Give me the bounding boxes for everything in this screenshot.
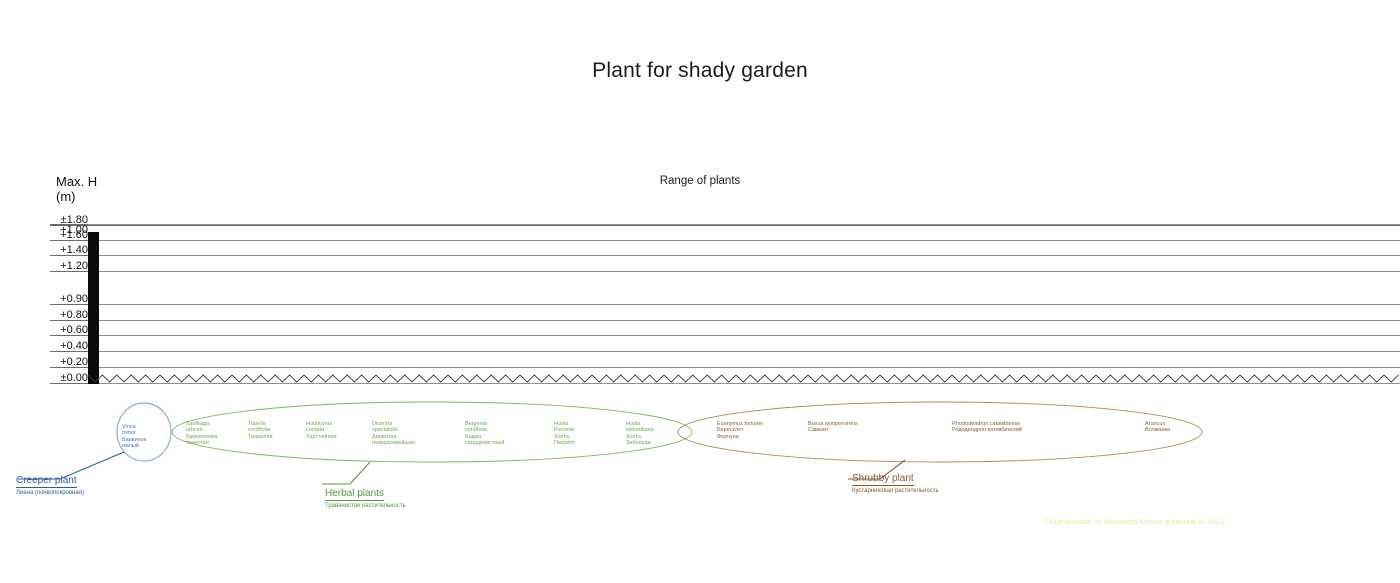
plant-label-line: Хауттюйния bbox=[306, 434, 337, 440]
plant-label-4: HouttuyniacordataХауттюйния bbox=[306, 421, 337, 440]
plant-photo-image bbox=[806, 311, 927, 383]
chart-subtitle: Range of plants bbox=[0, 175, 1400, 187]
y-axis-tick-rule-5 bbox=[50, 304, 88, 305]
plant-label-1: VincaminorБарвинокмалый bbox=[122, 424, 146, 449]
plant-label-line: sieboldiana bbox=[626, 427, 654, 433]
legend-item-creeper[interactable]: Creeper plant Лиана (почвопокровная) bbox=[16, 470, 84, 496]
herbal-leader-line bbox=[322, 462, 370, 484]
legend-creeper-label-ru: Лиана (почвопокровная) bbox=[16, 490, 84, 496]
y-axis-tick-labels: ±1.80+1.60+1.40+1.20+1.00+0.90+0.80+0.60… bbox=[50, 224, 88, 389]
plant-label-line: сердцелистный bbox=[465, 440, 504, 446]
scale-bar bbox=[88, 232, 99, 384]
plant-label-10: Buxus sempervirensСамшит bbox=[808, 421, 858, 434]
y-axis-tick-rule-6 bbox=[50, 320, 88, 321]
y-axis-tick-rule-7 bbox=[50, 335, 88, 336]
plant-photo-12 bbox=[1143, 229, 1400, 383]
plant-label-line: Барвинок bbox=[122, 437, 146, 443]
y-axis-tick-4: +1.00 bbox=[60, 224, 88, 236]
y-axis-tick-rule-9 bbox=[50, 367, 88, 368]
plant-label-5: DicentraspectabilisДицентранаикрасивейша… bbox=[372, 421, 415, 446]
legend-herbal-label-ru: Травянистая растительность bbox=[325, 503, 406, 509]
infographic-canvas: Plant for shady garden Max. H (m) Range … bbox=[0, 0, 1400, 583]
plant-label-12: AruncusВолжанка bbox=[1145, 421, 1170, 434]
page-title: Plant for shady garden bbox=[0, 59, 1400, 83]
plant-label-7: HostaFortuneiХостаПатриот bbox=[554, 421, 575, 446]
plant-label-8: HostasieboldianaХостаЗибольда bbox=[626, 421, 654, 446]
watermark-credit: Original made by Alexandra Kotova greenr… bbox=[1045, 517, 1224, 526]
plant-label-2: SaxifragaurbiumКамнеломкатенистая bbox=[186, 421, 218, 446]
plant-label-line: Патриот bbox=[554, 440, 575, 446]
plant-label-6: BergeniacordifoliaБадансердцелистный bbox=[465, 421, 504, 446]
plant-label-line: cordifolia bbox=[248, 427, 273, 433]
plant-label-line: тенистая bbox=[186, 440, 218, 446]
plant-photo-image bbox=[950, 279, 1102, 383]
group-annotations bbox=[0, 384, 1400, 534]
y-axis-tick-rule-2 bbox=[50, 255, 88, 256]
plant-label-3: TiarellacordifoliaТиарелла bbox=[248, 421, 273, 440]
plant-label-11: Rhododendron catawbienseРододендрон кате… bbox=[952, 421, 1022, 434]
y-axis-tick-rule-1 bbox=[50, 240, 88, 241]
y-axis-tick-rule-3 bbox=[50, 271, 88, 272]
plant-photo-image bbox=[1143, 229, 1400, 383]
plant-label-line: Форчуна bbox=[717, 434, 763, 440]
legend-herbal-label-en: Herbal plants bbox=[325, 488, 384, 501]
plant-label-line: Волжанка bbox=[1145, 427, 1170, 433]
plant-label-9: Euonymus fortuneiБересклетФорчуна bbox=[717, 421, 763, 440]
y-axis-tick-rule-8 bbox=[50, 351, 88, 352]
gridline-4 bbox=[88, 224, 1400, 225]
plant-label-line: Камнеломка bbox=[186, 434, 218, 440]
plant-label-line: Зибольда bbox=[626, 440, 654, 446]
chart-plot-area bbox=[88, 224, 1400, 384]
legend-item-herbal[interactable]: Herbal plants Травянистая растительность bbox=[325, 483, 406, 509]
y-axis-caption-line2: (m) bbox=[56, 189, 97, 204]
plant-label-line: малый bbox=[122, 443, 146, 449]
legend-shrubby-label-en: Shrubby plant bbox=[852, 473, 914, 486]
plant-photo-10 bbox=[806, 311, 927, 383]
plant-label-line: наикрасивейшая bbox=[372, 440, 415, 446]
legend-creeper-label-en: Creeper plant bbox=[16, 475, 77, 488]
plant-label-line: Тиарелла bbox=[248, 434, 273, 440]
plant-label-line: Fortunei bbox=[554, 427, 575, 433]
legend-item-shrubby[interactable]: Shrubby plant Кустарниковая растительнос… bbox=[852, 468, 939, 494]
plant-label-line: Рододендрон катевбинский bbox=[952, 427, 1022, 433]
gridline-0 bbox=[88, 225, 1400, 226]
plant-photo-11 bbox=[950, 279, 1102, 383]
plant-label-line: Самшит bbox=[808, 427, 858, 433]
legend-shrubby-label-ru: Кустарниковая растительность bbox=[852, 488, 939, 494]
y-axis-tick-rule-4 bbox=[50, 224, 88, 225]
